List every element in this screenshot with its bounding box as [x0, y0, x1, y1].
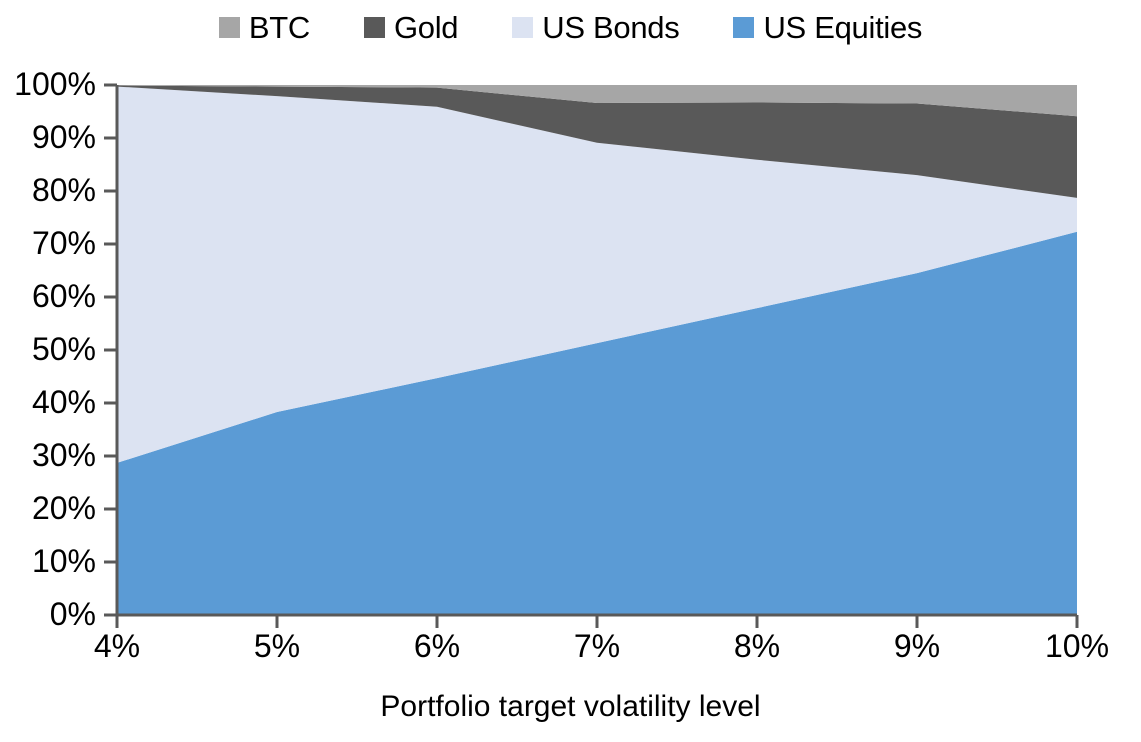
x-axis-title: Portfolio target volatility level — [0, 690, 1141, 724]
stacked-area-chart: BTC Gold US Bonds US Equities 0%10%20%30… — [0, 0, 1141, 742]
x-tick-label: 5% — [254, 630, 300, 662]
x-tick-label: 6% — [414, 630, 460, 662]
x-tick-label: 9% — [894, 630, 940, 662]
x-tick-label: 4% — [94, 630, 140, 662]
x-axis-tick-labels: 4%5%6%7%8%9%10% — [0, 0, 1141, 742]
x-tick-label: 10% — [1045, 630, 1109, 662]
x-tick-label: 7% — [574, 630, 620, 662]
x-tick-label: 8% — [734, 630, 780, 662]
